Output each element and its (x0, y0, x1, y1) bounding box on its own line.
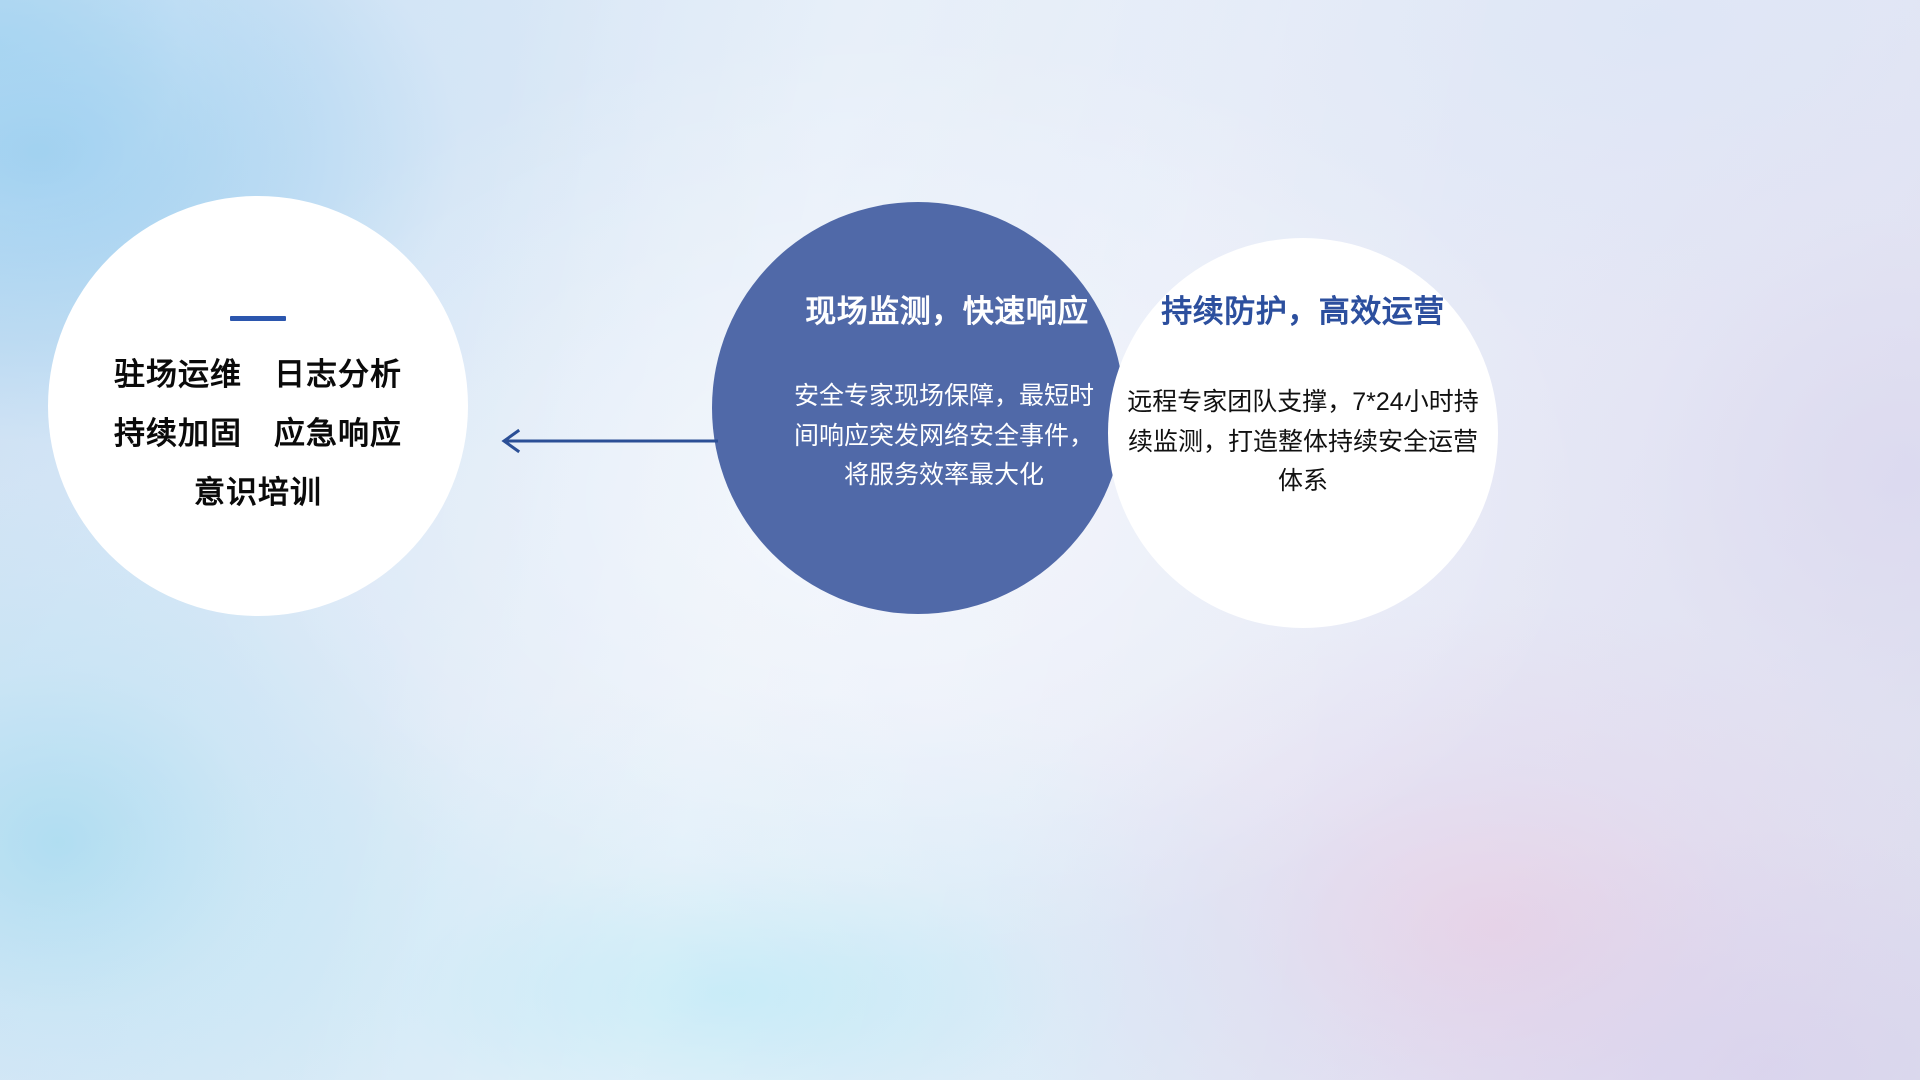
slide-canvas: 现场监测，快速响应 安全专家现场保障，最短时间响应突发网络安全事件，将服务效率最… (0, 0, 1920, 1080)
right-circle-title: 持续防护，高效运营 (1161, 286, 1445, 331)
left-circle-line-3: 意识培训 (194, 477, 322, 508)
left-arrow-icon (490, 418, 720, 464)
divider-dash-icon (230, 316, 286, 321)
middle-circle-title: 现场监测，快速响应 (805, 286, 1089, 331)
right-circle-content: 持续防护，高效运营 远程专家团队支撑，7*24小时持续监测，打造整体持续安全运营… (1108, 238, 1498, 628)
middle-circle-content: 现场监测，快速响应 安全专家现场保障，最短时间响应突发网络安全事件，将服务效率最… (712, 202, 1124, 614)
left-circle-line-1: 驻场运维 日志分析 (114, 359, 402, 390)
middle-circle-card[interactable]: 现场监测，快速响应 安全专家现场保障，最短时间响应突发网络安全事件，将服务效率最… (712, 202, 1124, 614)
left-circle-card[interactable]: 驻场运维 日志分析 持续加固 应急响应 意识培训 (48, 196, 468, 616)
right-circle-body: 远程专家团队支撑，7*24小时持续监测，打造整体持续安全运营体系 (1126, 383, 1481, 502)
left-circle-line-2: 持续加固 应急响应 (114, 418, 402, 449)
middle-circle-body: 安全专家现场保障，最短时间响应突发网络安全事件，将服务效率最大化 (794, 377, 1094, 496)
left-circle-content: 驻场运维 日志分析 持续加固 应急响应 意识培训 (48, 196, 468, 616)
right-circle-card[interactable]: 持续防护，高效运营 远程专家团队支撑，7*24小时持续监测，打造整体持续安全运营… (1108, 238, 1498, 628)
flow-arrow (490, 418, 720, 464)
